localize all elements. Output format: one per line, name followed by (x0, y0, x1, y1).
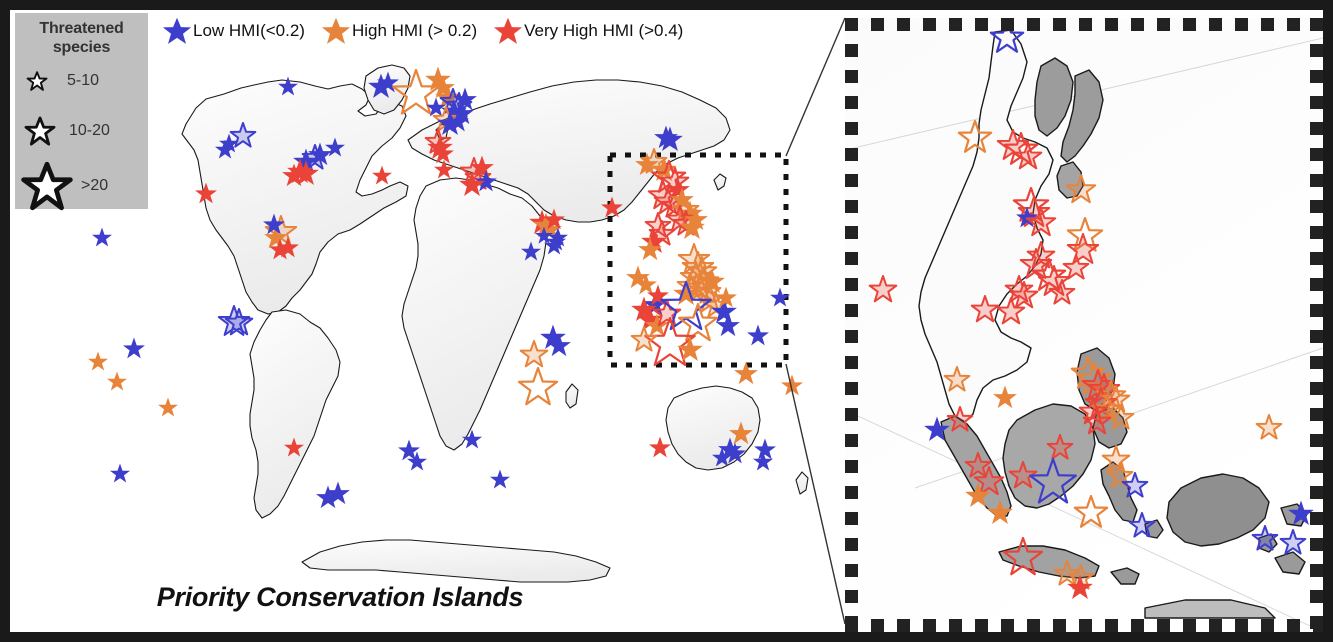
legend-swatch-high (322, 18, 350, 44)
land-madagascar (566, 384, 578, 408)
legend-very-high-hmi-label: Very High HMI (>0.4) (524, 21, 683, 41)
star-filled-icon (321, 16, 351, 46)
marker-star-low-hmi[interactable] (771, 289, 788, 305)
marker-star-very-high-hmi[interactable] (650, 438, 669, 456)
inset-border-right (1310, 18, 1323, 632)
marker-star-high-hmi[interactable] (519, 368, 557, 404)
legend-size-label-5-10: 5-10 (67, 72, 99, 90)
legend-title: Threatened species (15, 13, 148, 57)
land-antarctica (302, 540, 610, 582)
marker-star-low-hmi[interactable] (111, 465, 128, 481)
inset-border-left (845, 18, 858, 632)
legend-low-hmi-label: Low HMI(<0.2) (193, 21, 305, 41)
marker-star-low-hmi[interactable] (748, 326, 767, 344)
land-australia (666, 386, 760, 470)
marker-star-high-hmi[interactable] (108, 373, 125, 389)
land-japan (714, 174, 726, 190)
marker-star-low-hmi[interactable] (491, 471, 508, 487)
figure-root: Threatened species 5-10 10-20 >20 (0, 0, 1333, 642)
legend-size-label-gt-20: >20 (81, 177, 108, 195)
legend-swatch-low (163, 18, 191, 44)
star-filled-icon (493, 16, 523, 46)
land-south-america (250, 310, 340, 518)
legend-title-line1: Threatened (39, 20, 123, 37)
figure-canvas: Threatened species 5-10 10-20 >20 (10, 10, 1323, 632)
marker-star-high-hmi[interactable] (159, 399, 176, 415)
marker-star-low-hmi[interactable] (124, 339, 143, 357)
legend-size-label-10-20: 10-20 (69, 122, 110, 140)
land-north-america (182, 80, 408, 314)
land-nz (796, 472, 808, 494)
inset-border-bottom (845, 619, 1323, 632)
legend-title-line2: species (53, 39, 110, 56)
land-africa (402, 178, 546, 450)
threatened-species-legend: Threatened species 5-10 10-20 >20 (15, 13, 148, 209)
marker-star-high-hmi[interactable] (521, 341, 548, 366)
inset-border-top (845, 18, 1323, 31)
legend-low-hmi[interactable]: Low HMI(<0.2) (162, 16, 305, 46)
marker-star-low-hmi[interactable] (755, 440, 774, 458)
landmass-group (182, 65, 808, 582)
page-title: Priority Conservation Islands (10, 582, 670, 613)
marker-star-low-hmi[interactable] (93, 229, 110, 245)
legend-size-item-gt-20: >20 (21, 160, 148, 212)
marker-star-high-hmi[interactable] (89, 353, 106, 369)
star-outline-icon (21, 160, 73, 212)
legend-size-item-10-20: 10-20 (21, 112, 148, 150)
inset-map-svg (845, 18, 1323, 632)
marker-star-high-hmi[interactable] (782, 376, 801, 394)
legend-size-item-5-10: 5-10 (21, 65, 148, 97)
marker-star-very-high-hmi[interactable] (373, 167, 390, 183)
hmi-legend: Low HMI(<0.2) High HMI (> 0.2) Very High… (162, 16, 683, 46)
star-filled-icon (162, 16, 192, 46)
star-outline-icon (21, 65, 53, 97)
legend-high-hmi-label: High HMI (> 0.2) (352, 21, 477, 41)
star-outline-icon (21, 112, 59, 150)
legend-very-high-hmi[interactable]: Very High HMI (>0.4) (493, 16, 683, 46)
southeast-asia-zoom-inset[interactable] (845, 18, 1323, 632)
legend-high-hmi[interactable]: High HMI (> 0.2) (321, 16, 477, 46)
marker-star-high-hmi[interactable] (736, 363, 757, 383)
legend-swatch-very-high (494, 18, 522, 44)
